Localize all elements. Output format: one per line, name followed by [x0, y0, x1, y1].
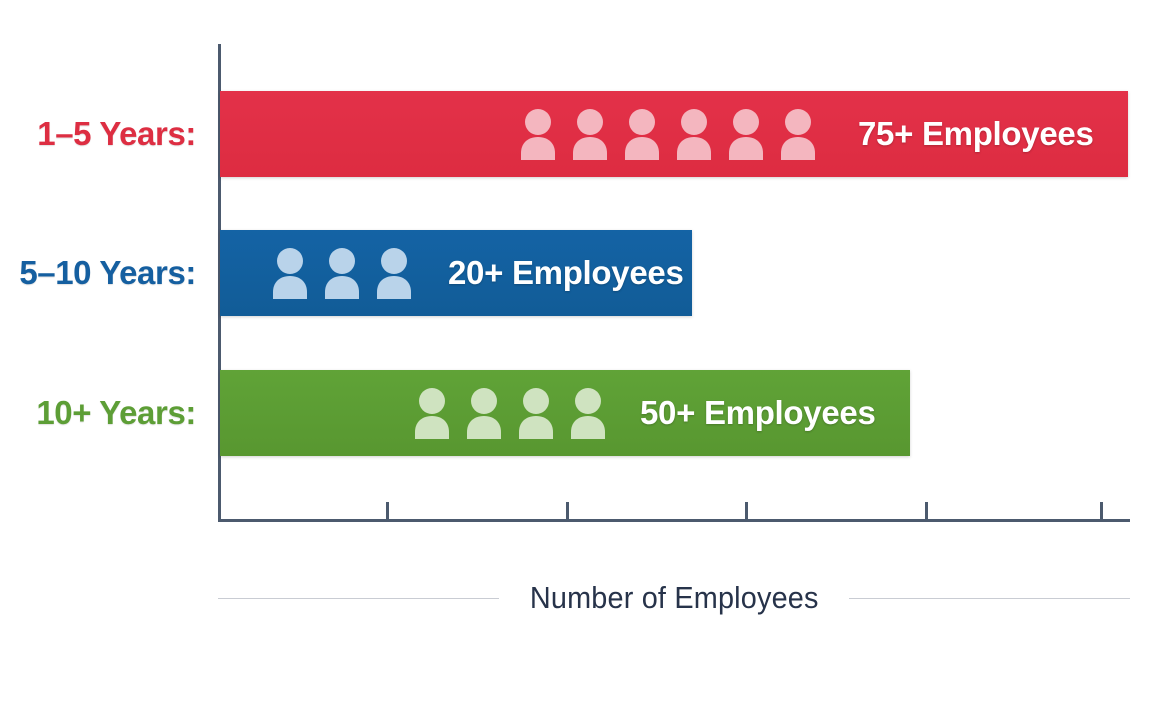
person-icon — [264, 245, 316, 301]
x-axis-tick — [566, 502, 569, 520]
axis-title-rule-right — [849, 598, 1130, 599]
person-icon-group — [264, 230, 420, 316]
person-icon — [368, 245, 420, 301]
bar-row: 1–5 Years: 75+ Employees — [0, 91, 1156, 177]
person-icon — [512, 106, 564, 162]
x-axis-title-group: Number of Employees — [218, 575, 1130, 621]
bar-row: 5–10 Years: 20+ Employees — [0, 230, 1156, 316]
x-axis-tick — [218, 502, 221, 520]
person-icon — [564, 106, 616, 162]
category-label-10-plus-years: 10+ Years: — [0, 370, 196, 456]
person-icon — [458, 385, 510, 441]
x-axis-tick — [925, 502, 928, 520]
person-icon — [616, 106, 668, 162]
bar-5-10-years[interactable]: 20+ Employees — [220, 230, 692, 316]
person-icon — [510, 385, 562, 441]
category-label-5-10-years: 5–10 Years: — [0, 230, 196, 316]
x-axis-tick — [745, 502, 748, 520]
bar-row: 10+ Years: 50+ Employees — [0, 370, 1156, 456]
x-axis-line — [218, 519, 1130, 522]
person-icon — [316, 245, 368, 301]
category-label-1-5-years: 1–5 Years: — [0, 91, 196, 177]
person-icon — [406, 385, 458, 441]
person-icon — [562, 385, 614, 441]
person-icon — [720, 106, 772, 162]
bar-10-plus-years[interactable]: 50+ Employees — [220, 370, 910, 456]
bar-value-label-5-10-years: 20+ Employees — [448, 254, 684, 292]
person-icon — [668, 106, 720, 162]
employee-tenure-bar-chart: 1–5 Years: 75+ Employees 5–10 Years: 20+… — [0, 0, 1156, 719]
person-icon — [772, 106, 824, 162]
x-axis-title: Number of Employees — [530, 580, 819, 616]
axis-title-rule-left — [218, 598, 499, 599]
x-axis-tick — [1100, 502, 1103, 520]
bar-value-label-10-plus-years: 50+ Employees — [640, 394, 876, 432]
person-icon-group — [406, 370, 614, 456]
bar-1-5-years[interactable]: 75+ Employees — [220, 91, 1128, 177]
x-axis-tick — [386, 502, 389, 520]
bar-value-label-1-5-years: 75+ Employees — [858, 115, 1094, 153]
person-icon-group — [512, 91, 824, 177]
